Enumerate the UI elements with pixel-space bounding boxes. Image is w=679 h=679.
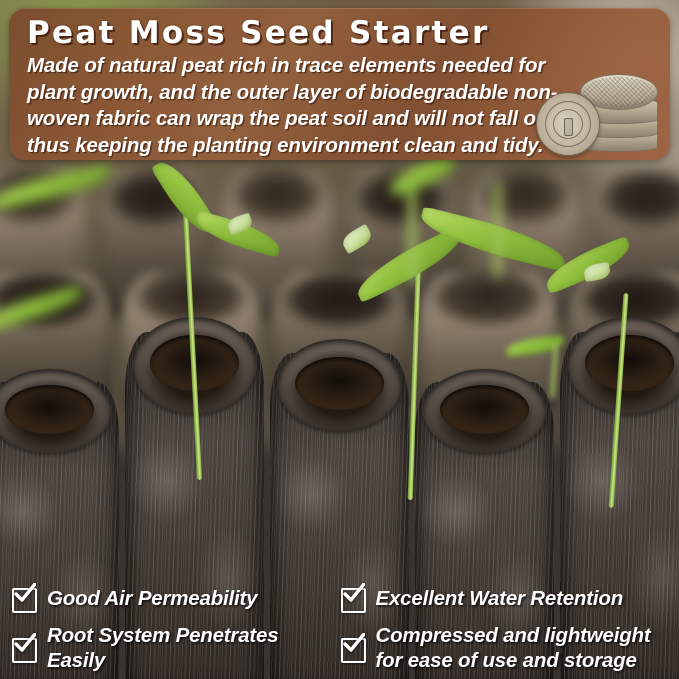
seedling-sprout (0, 168, 120, 238)
feature-item-root-penetration: Root System Penetrates Easily (12, 623, 341, 673)
feature-label: Excellent Water Retention (376, 586, 624, 611)
seedling-leaf (0, 285, 85, 332)
checkmark-glyph (14, 633, 36, 653)
feature-item-compressed-lightweight: Compressed and lightweight for ease of u… (341, 623, 670, 673)
seedling-stem (408, 176, 416, 284)
checkbox-checked-icon (12, 636, 37, 661)
seedling-stem (408, 250, 422, 500)
pellet-texture (583, 77, 655, 107)
peat-pellet-stack-icon (534, 66, 662, 160)
feature-label: Good Air Permeability (47, 586, 257, 611)
pellet-center-hole (564, 118, 573, 136)
seedling-stem (609, 293, 629, 508)
seedling-sprout (0, 292, 94, 352)
seedling-stem (494, 182, 501, 278)
page-title: Peat Moss Seed Starter (27, 14, 656, 52)
seedling-sprout-main (150, 180, 330, 480)
seedling-stem (550, 344, 558, 398)
pellet-soil-cavity (5, 385, 94, 434)
checkmark-glyph (343, 583, 365, 603)
feature-label: Root System Penetrates Easily (47, 623, 325, 673)
checkbox-checked-icon (12, 586, 37, 611)
product-infographic: Peat Moss Seed Starter Made of natural p… (0, 0, 679, 679)
checkbox-checked-icon (341, 636, 366, 661)
feature-item-water-retention: Excellent Water Retention (341, 586, 670, 611)
seedling-sprout (470, 168, 550, 278)
feature-item-air-permeability: Good Air Permeability (12, 586, 341, 611)
header-banner: Peat Moss Seed Starter Made of natural p… (9, 8, 670, 160)
pellet-disc-front (536, 92, 600, 156)
seedling-leaf (0, 164, 113, 211)
checkmark-glyph (343, 633, 365, 653)
feature-label: Compressed and lightweight for ease of u… (376, 623, 670, 673)
seedling-stem (183, 210, 202, 480)
seedling-sprout (388, 164, 478, 284)
seedling-sprout (500, 330, 590, 420)
seedling-sprout (598, 248, 679, 508)
checkmark-glyph (14, 583, 36, 603)
checkbox-checked-icon (341, 586, 366, 611)
product-description: Made of natural peat rich in trace eleme… (27, 53, 581, 159)
feature-list: Good Air Permeability Excellent Water Re… (0, 586, 679, 673)
